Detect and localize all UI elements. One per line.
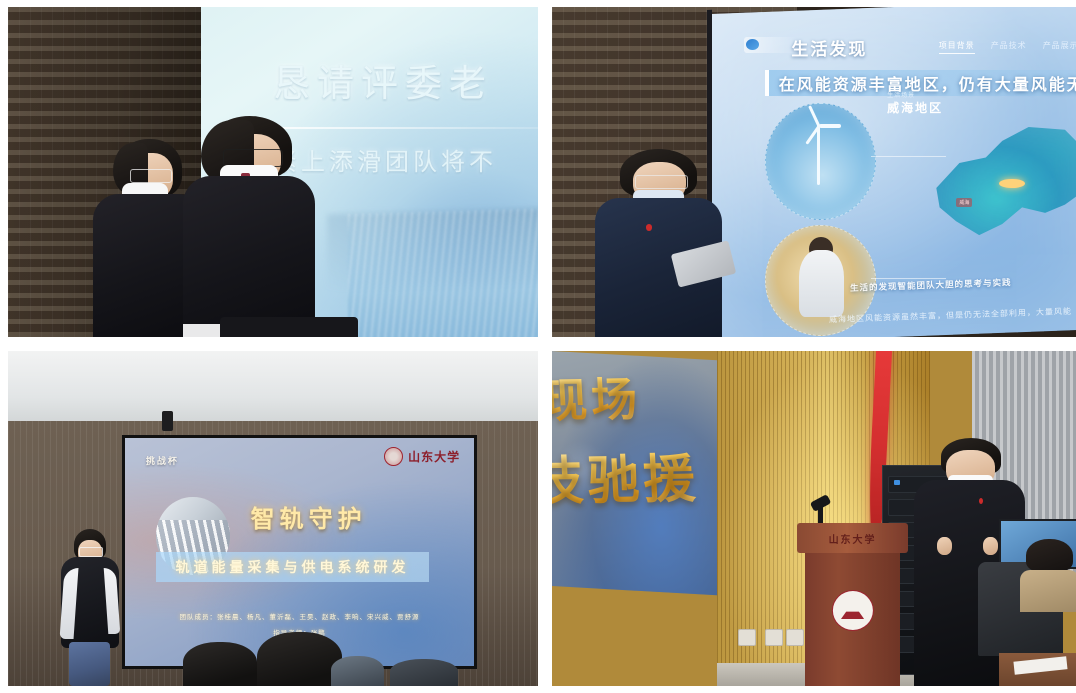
nav-item-2: 产品展示 [1043,40,1076,54]
lapel-pin-icon [979,498,983,504]
audience-head [331,656,384,686]
lectern-nameplate: 山东大学 [797,523,908,553]
paper-sheet [1014,656,1068,675]
status-led [894,480,900,485]
presenter-male [183,116,316,337]
wall-outlet-icon [786,629,804,646]
glasses-icon [79,547,103,556]
jeans [69,642,110,686]
slide-gold-line-1: 现场 [552,364,643,432]
slide-header: 生活发现 [791,35,867,60]
slide-gold-line-2: 技驰援 [552,437,701,515]
glasses-icon [635,175,688,188]
track-jacket [61,557,119,648]
panel-bottom-right[interactable]: 现场 技驰援 山东大学 [552,351,1076,686]
hand-left [937,537,952,554]
ceiling-camera-icon [162,411,174,431]
wind-turbine-photo-circle [765,103,876,221]
ceiling [8,351,538,428]
brand-logo-icon [744,37,797,54]
side-table [999,653,1076,687]
glasses-icon [223,149,283,166]
city-photo [348,208,538,337]
map-city-tag: 威海 [956,198,972,207]
slide-nav: 项目背景 产品技术 产品展示 [939,40,1076,54]
wall-outlet-icon [765,629,783,646]
turbine-blade [808,106,820,127]
competition-badge: 挑战杯 [146,454,179,467]
slide-title: 智轨守护 [251,499,367,534]
slide-subtitle-band: 轨道能量采集与供电系统研发 [156,552,428,582]
slide-subtitle: 轨道能量采集与供电系统研发 [175,557,409,577]
map-label-big: 威海地区 [887,99,943,116]
lectern: 山东大学 [805,535,901,686]
presenter-with-tablet [595,149,723,337]
connector-line [871,156,945,157]
panel-top-left[interactable]: 恳请评委老 紧上添滑团队将不 [8,7,538,337]
suit-jacket [183,176,316,337]
seated-attendee [1020,539,1076,613]
team-members: 团队成员：张桂晨、杨凡、董沂磊、王昊、赵政、李响、宋兴威、贾舒源 [179,611,419,621]
university-emblem-icon [831,590,873,631]
presenter-standing [61,529,119,686]
university-name: 山东大学 [408,448,460,465]
audience-chair [390,659,459,686]
panel-bottom-left[interactable]: 挑战杯 山东大学 智轨守护 轨道能量采集与供电系统研发 团队成员：张桂晨、杨凡、… [8,351,538,686]
map-label-group: 生活场景 威海地区 [887,90,943,116]
panel-top-right[interactable]: 生活发现 项目背景 产品技术 产品展示 在风能资源丰富地区，仍有大量风能无 威海… [552,7,1076,337]
nav-item-1: 产品技术 [991,40,1027,54]
slide-line-1: 恳请评委老 [273,53,493,107]
turbine-tower [817,124,820,184]
turbine-blade [819,124,841,127]
lapel-pin-icon [646,224,652,231]
laptop [220,317,358,337]
hand-right [983,537,998,554]
audience-head [257,632,342,686]
hair [1026,539,1073,573]
glasses-icon [130,169,172,183]
map-label-small: 生活场景 [887,90,943,99]
university-logo: 山东大学 [384,447,460,466]
wall-outlet-icon [738,629,756,646]
lectern-nameplate-text: 山东大学 [829,531,877,546]
nav-item-0: 项目背景 [939,40,975,54]
audience-head [183,642,257,686]
coat [1020,570,1076,613]
university-seal-icon [384,447,403,466]
photo-collage: 恳请评委老 紧上添滑团队将不 生活发现 [0,0,1076,693]
logo-mark [746,39,760,51]
person-body [799,250,845,318]
